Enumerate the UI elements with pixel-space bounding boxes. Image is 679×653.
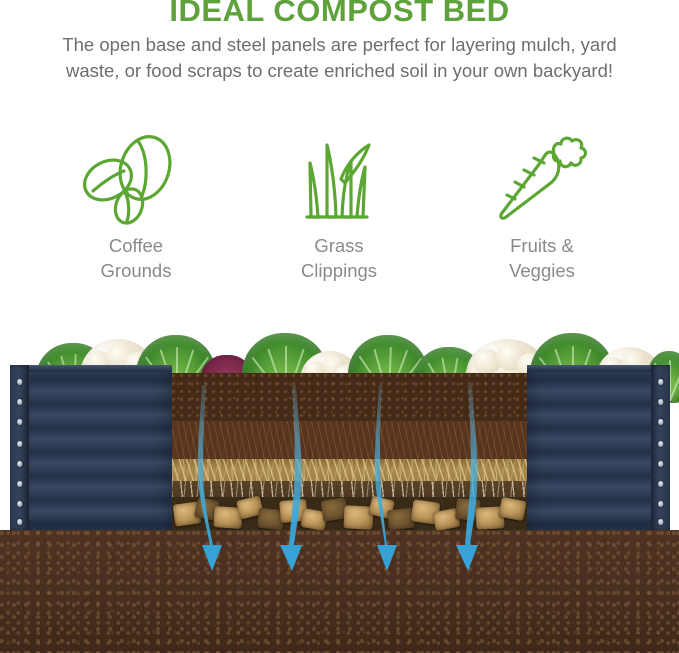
- header-section: IDEAL COMPOST BED The open base and stee…: [0, 0, 679, 120]
- compost-materials-list: Coffee Grounds: [0, 130, 679, 290]
- screw-icon: [658, 379, 664, 385]
- screw-icon: [17, 441, 23, 447]
- screw-icon: [658, 501, 664, 507]
- screw-icon: [658, 399, 664, 405]
- panel-top-rim: [527, 365, 670, 372]
- ground-soil: [0, 530, 679, 653]
- raised-garden-bed-scene: [0, 325, 679, 653]
- page-subtitle: The open base and steel panels are perfe…: [50, 32, 630, 84]
- screw-icon: [658, 419, 664, 425]
- feature-label: Fruits & Veggies: [509, 233, 575, 283]
- screw-icon: [17, 379, 23, 385]
- grass-blades-icon: [284, 130, 394, 225]
- screw-icon: [658, 461, 664, 467]
- screw-icon: [17, 461, 23, 467]
- feature-label: Grass Clippings: [301, 233, 377, 283]
- water-flow-arrow: [270, 385, 334, 585]
- screw-icon: [17, 481, 23, 487]
- panel-edge-strip: [651, 365, 670, 530]
- feature-item-fruits-veggies: Fruits & Veggies: [442, 130, 642, 290]
- water-flow-arrow: [358, 385, 422, 585]
- left-metal-panel: [10, 365, 172, 530]
- screw-icon: [17, 519, 23, 525]
- product-infographic: IDEAL COMPOST BED The open base and stee…: [0, 0, 679, 653]
- panel-edge-strip: [10, 365, 29, 530]
- feature-item-coffee-grounds: Coffee Grounds: [36, 130, 236, 290]
- screw-icon: [658, 519, 664, 525]
- screw-icon: [658, 441, 664, 447]
- soil-surface-edge: [0, 530, 679, 540]
- feature-item-grass-clippings: Grass Clippings: [239, 130, 439, 290]
- right-metal-panel: [527, 365, 670, 530]
- screw-icon: [17, 419, 23, 425]
- coffee-beans-icon: [81, 130, 191, 225]
- feature-label: Coffee Grounds: [101, 233, 172, 283]
- water-flow-arrow: [182, 385, 246, 585]
- carrot-icon: [487, 130, 597, 225]
- screw-icon: [17, 399, 23, 405]
- water-flow-arrow: [445, 385, 509, 585]
- screw-icon: [658, 481, 664, 487]
- panel-top-rim: [10, 365, 172, 372]
- screw-icon: [17, 501, 23, 507]
- page-title: IDEAL COMPOST BED: [0, 0, 679, 28]
